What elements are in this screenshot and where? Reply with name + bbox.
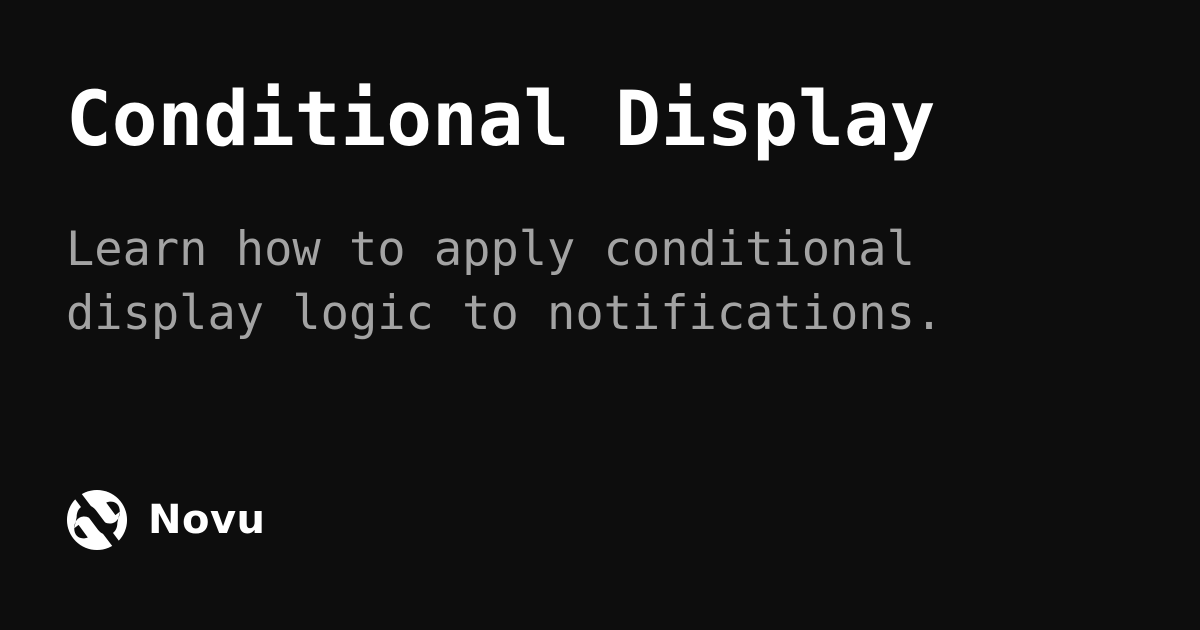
page-title: Conditional Display [66,78,935,160]
brand-name: Novu [148,500,266,540]
brand-lockup: Novu [66,489,266,551]
novu-logo-icon [66,489,128,551]
page-subtitle: Learn how to apply conditional display l… [66,218,943,346]
og-card: Conditional Display Learn how to apply c… [0,0,1200,630]
